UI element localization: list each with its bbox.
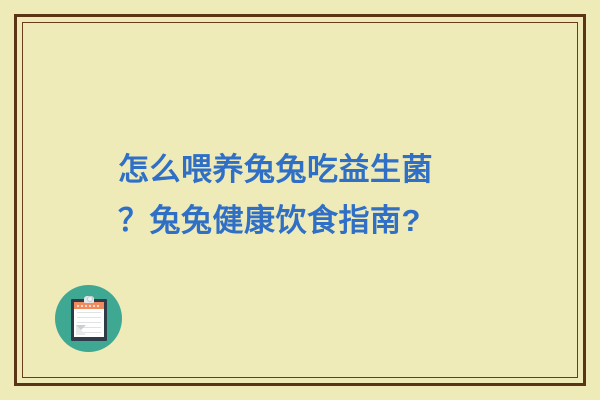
clipboard-fold-corner bbox=[76, 325, 86, 335]
page-title-line-1: 怎么喂养兔兔吃益生菌 bbox=[118, 144, 518, 195]
clipboard-header-marks bbox=[77, 305, 101, 307]
clipboard-paper-header bbox=[74, 302, 104, 309]
clipboard-clip-ring bbox=[87, 296, 93, 302]
page-title: 怎么喂养兔兔吃益生菌 ？兔兔健康饮食指南? bbox=[118, 144, 518, 246]
clipboard-icon bbox=[71, 296, 107, 341]
clipboard-paper bbox=[74, 302, 104, 337]
clipboard-icon-badge bbox=[55, 285, 122, 352]
banner-card: 怎么喂养兔兔吃益生菌 ？兔兔健康饮食指南? bbox=[0, 0, 600, 400]
page-title-line-2: ？兔兔健康饮食指南? bbox=[118, 195, 518, 246]
